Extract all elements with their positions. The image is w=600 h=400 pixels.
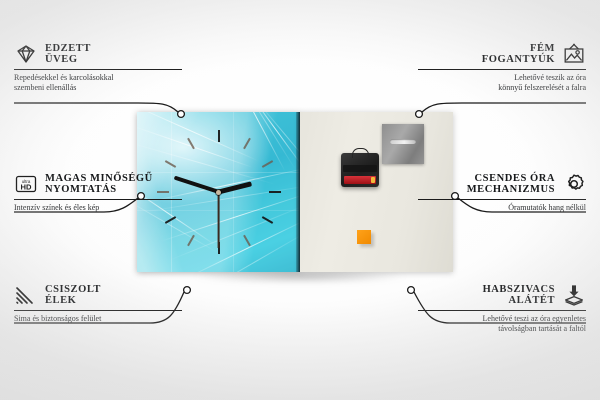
callout-header: EDZETT ÜVEG bbox=[14, 42, 182, 66]
callout-title: MAGAS MINŐSÉGŰ NYOMTATÁS bbox=[45, 173, 153, 196]
product-drop-shadow bbox=[150, 270, 450, 286]
callout-title: FÉM FOGANTYÚK bbox=[482, 43, 555, 66]
callout-edzett-uveg[interactable]: EDZETT ÜVEG Repedésekkel és karcolásokka… bbox=[14, 42, 182, 92]
callout-csendes-ora-mechanizmus[interactable]: CSENDES ÓRA MECHANIZMUS Óramutatók hang … bbox=[418, 172, 586, 213]
callout-header: CSENDES ÓRA MECHANIZMUS bbox=[418, 172, 586, 196]
hanger-slot bbox=[390, 139, 416, 144]
callout-header: FÉM FOGANTYÚK bbox=[418, 42, 586, 66]
callout-csiszolt-elek[interactable]: CSISZOLT ÉLEK Sima és biztonságos felüle… bbox=[14, 283, 182, 324]
callout-habszivacs-alatet[interactable]: HABSZIVACS ALÁTÉT Lehetővé teszi az óra … bbox=[418, 283, 586, 333]
callout-divider bbox=[14, 310, 182, 311]
movement-band bbox=[343, 165, 377, 172]
product-image bbox=[137, 112, 453, 272]
infographic-canvas: EDZETT ÜVEG Repedésekkel és karcolásokka… bbox=[0, 0, 600, 400]
callout-subtitle-line2: könnyű felszerelését a falra bbox=[418, 83, 586, 93]
callout-magas-minosegu-nyomtatas[interactable]: ultra HD MAGAS MINŐSÉGŰ NYOMTATÁS Intenz… bbox=[14, 172, 182, 213]
callout-subtitle-line1: Lehetővé teszi az óra egyenletes bbox=[418, 314, 586, 324]
quartz-movement bbox=[341, 153, 379, 187]
callout-subtitle-line1: Sima és biztonságos felület bbox=[14, 314, 182, 324]
callout-subtitle-line1: Óramutatók hang nélkül bbox=[418, 203, 586, 213]
callout-subtitle-line1: Repedésekkel és karcolásokkal bbox=[14, 73, 182, 83]
callout-divider bbox=[14, 69, 182, 70]
callout-divider bbox=[418, 310, 586, 311]
foam-spacer-icon bbox=[562, 283, 586, 307]
movement-hook bbox=[352, 148, 369, 158]
callout-subtitle-line1: Intenzív színek és éles kép bbox=[14, 203, 182, 213]
picture-hanger-icon bbox=[562, 42, 586, 66]
callout-title: CSISZOLT ÉLEK bbox=[45, 284, 101, 307]
clock-hub bbox=[216, 190, 221, 195]
callout-subtitle-line2: távolságban tartását a faltól bbox=[418, 324, 586, 334]
ultra-hd-icon: ultra HD bbox=[14, 172, 38, 196]
gear-icon bbox=[562, 172, 586, 196]
callout-header: CSISZOLT ÉLEK bbox=[14, 283, 182, 307]
callout-header: ultra HD MAGAS MINŐSÉGŰ NYOMTATÁS bbox=[14, 172, 182, 196]
callout-divider bbox=[418, 69, 586, 70]
polished-edges-icon bbox=[14, 283, 38, 307]
callout-subtitle-line2: szembeni ellenállás bbox=[14, 83, 182, 93]
foam-pad bbox=[357, 230, 371, 244]
callout-title: HABSZIVACS ALÁTÉT bbox=[483, 284, 555, 307]
second-hand bbox=[218, 192, 220, 248]
svg-text:HD: HD bbox=[21, 182, 32, 191]
callout-divider bbox=[14, 199, 182, 200]
callout-divider bbox=[418, 199, 586, 200]
callout-title: CSENDES ÓRA MECHANIZMUS bbox=[467, 173, 555, 196]
callout-subtitle-line1: Lehetővé teszik az óra bbox=[418, 73, 586, 83]
callout-title: EDZETT ÜVEG bbox=[45, 43, 91, 66]
callout-header: HABSZIVACS ALÁTÉT bbox=[418, 283, 586, 307]
battery bbox=[344, 176, 376, 184]
metal-hanger bbox=[382, 124, 424, 164]
diamond-icon bbox=[14, 42, 38, 66]
callout-fem-fogantyuk[interactable]: FÉM FOGANTYÚK Lehetővé teszik az óra kön… bbox=[418, 42, 586, 92]
battery-terminal bbox=[371, 177, 375, 183]
